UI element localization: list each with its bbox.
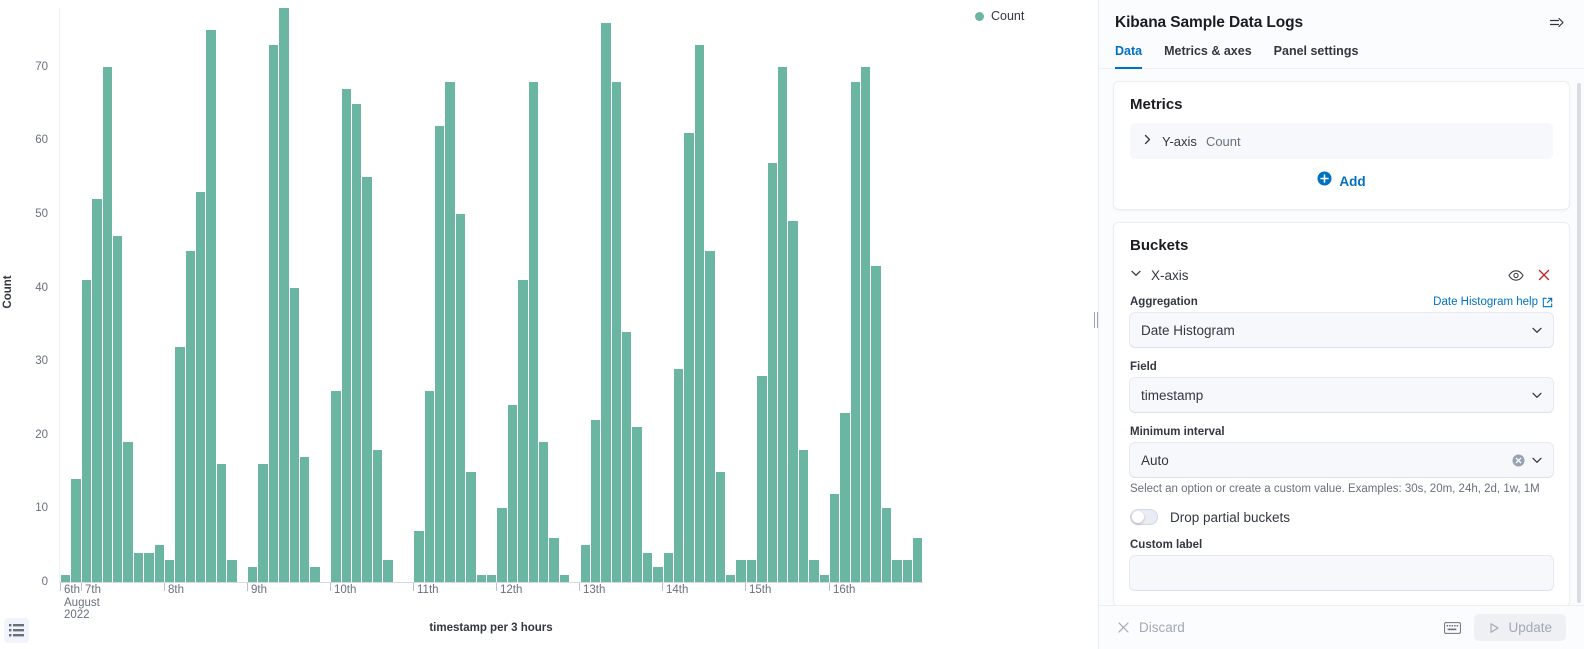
chart-legend[interactable]: Count: [975, 9, 1024, 23]
bar[interactable]: [725, 575, 735, 582]
legend-item-count[interactable]: Count: [991, 9, 1024, 23]
bar[interactable]: [600, 23, 610, 582]
bar[interactable]: [507, 405, 517, 582]
bar[interactable]: [756, 376, 766, 582]
legend-color-dot: [975, 12, 984, 21]
collapse-panel-icon: [1549, 16, 1566, 31]
bar[interactable]: [912, 538, 922, 582]
tab-metrics-and-axes[interactable]: Metrics & axes: [1164, 44, 1252, 69]
close-x-icon: [1537, 268, 1551, 282]
drop-partial-buckets-toggle[interactable]: [1130, 509, 1158, 525]
bar[interactable]: [746, 560, 756, 582]
chevron-down-icon[interactable]: [1130, 266, 1142, 284]
buckets-heading: Buckets: [1130, 237, 1553, 254]
bar[interactable]: [496, 508, 506, 582]
aggregation-selected-value: Date Histogram: [1141, 323, 1525, 338]
bucket-x-axis-title: X-axis: [1151, 268, 1497, 283]
bar[interactable]: [133, 553, 143, 582]
aggregation-select[interactable]: Date Histogram: [1130, 313, 1553, 347]
bar[interactable]: [330, 391, 340, 582]
bar[interactable]: [829, 494, 839, 582]
bar[interactable]: [548, 538, 558, 582]
x-axis-tick-label: 8th: [168, 584, 184, 597]
bar[interactable]: [715, 472, 725, 582]
x-axis-tick-mark: [330, 583, 331, 591]
bar[interactable]: [683, 133, 693, 582]
x-axis-tick-mark: [662, 583, 663, 591]
bar[interactable]: [424, 391, 434, 582]
side-panel-header: Kibana Sample Data Logs: [1099, 0, 1584, 33]
chart-pane: Count Count 010203040506070 6th August 2…: [0, 0, 1098, 649]
bar[interactable]: [413, 531, 423, 583]
x-axis-tick-mark: [247, 583, 248, 591]
bar[interactable]: [278, 8, 288, 582]
x-axis-tick-mark: [745, 583, 746, 591]
bar[interactable]: [216, 464, 226, 582]
chevron-right-icon: [1142, 132, 1153, 150]
x-axis-tick-mark: [496, 583, 497, 591]
y-axis-tick-label: 10: [35, 502, 48, 514]
x-axis-tick-label: 16th: [833, 584, 855, 597]
bar[interactable]: [60, 575, 70, 582]
x-axis-tick-label: 9th: [251, 584, 267, 597]
toggle-visibility-button[interactable]: [1506, 267, 1526, 284]
keyboard-shortcuts-button[interactable]: [1441, 619, 1464, 637]
chevron-down-icon[interactable]: [1531, 454, 1543, 466]
bar[interactable]: [673, 369, 683, 582]
update-label: Update: [1508, 620, 1552, 635]
drop-partial-buckets-row[interactable]: Drop partial buckets: [1130, 509, 1553, 525]
metric-row-label: Y-axis: [1162, 134, 1197, 149]
x-axis-tick-mark: [579, 583, 580, 591]
footer-actions: Update: [1441, 614, 1566, 641]
eye-icon: [1508, 269, 1524, 282]
bar[interactable]: [361, 177, 371, 582]
aggregation-label-row: Aggregation Date Histogram help: [1130, 296, 1553, 308]
editor-scroll-region[interactable]: Metrics Y-axis Count Add: [1099, 69, 1584, 605]
update-button[interactable]: Update: [1474, 614, 1566, 641]
x-axis-tick-mark: [164, 583, 165, 591]
field-label: Field: [1130, 361, 1157, 373]
bar[interactable]: [372, 450, 382, 582]
bar-series-count[interactable]: [60, 8, 922, 582]
bar[interactable]: [891, 560, 901, 582]
y-axis-ticks: 010203040506070: [0, 0, 56, 649]
bar[interactable]: [652, 567, 662, 582]
metrics-heading: Metrics: [1130, 96, 1553, 113]
x-axis-tick-mark: [60, 583, 61, 591]
bar[interactable]: [881, 508, 891, 582]
field-selected-value: timestamp: [1141, 388, 1525, 403]
close-x-icon: [1117, 621, 1130, 634]
bar[interactable]: [154, 545, 164, 582]
plus-circle-icon: [1317, 171, 1332, 191]
collapse-panel-button[interactable]: [1547, 14, 1568, 33]
discard-button[interactable]: Discard: [1117, 620, 1185, 635]
y-axis-tick-label: 0: [42, 576, 48, 588]
bar[interactable]: [205, 30, 215, 582]
custom-label-label: Custom label: [1130, 539, 1202, 551]
bar[interactable]: [268, 45, 278, 582]
bar[interactable]: [91, 199, 101, 582]
plot-area: Count 010203040506070 6th August 20227th…: [0, 0, 960, 649]
bar[interactable]: [580, 545, 590, 582]
bar[interactable]: [777, 67, 787, 582]
bar[interactable]: [143, 553, 153, 582]
toggle-knob: [1132, 511, 1144, 523]
date-histogram-help-text: Date Histogram help: [1433, 296, 1538, 308]
bar[interactable]: [517, 280, 527, 582]
bar[interactable]: [351, 104, 361, 582]
x-axis-tick-label: 11th: [417, 584, 439, 597]
y-axis-tick-label: 60: [35, 134, 48, 146]
bar[interactable]: [694, 45, 704, 582]
bar[interactable]: [611, 82, 621, 582]
remove-bucket-button[interactable]: [1535, 266, 1553, 284]
minimum-interval-label: Minimum interval: [1130, 426, 1225, 438]
bar[interactable]: [434, 126, 444, 582]
add-metric-label: Add: [1339, 174, 1365, 189]
editor-tabs: Data Metrics & axes Panel settings: [1099, 33, 1584, 69]
minimum-interval-hint: Select an option or create a custom valu…: [1130, 482, 1553, 497]
y-axis-tick-label: 70: [35, 61, 48, 73]
minimum-interval-label-row: Minimum interval: [1130, 426, 1553, 438]
bar[interactable]: [341, 89, 351, 582]
drop-partial-buckets-label: Drop partial buckets: [1170, 510, 1290, 525]
y-axis-tick-label: 50: [35, 208, 48, 220]
custom-label-label-row: Custom label: [1130, 539, 1553, 551]
bar[interactable]: [102, 67, 112, 582]
y-axis-tick-label: 20: [35, 429, 48, 441]
bar[interactable]: [70, 479, 80, 582]
y-axis-tick-label: 30: [35, 355, 48, 367]
aggregation-label: Aggregation: [1130, 296, 1198, 308]
bar[interactable]: [164, 560, 174, 582]
minimum-interval-value: Auto: [1141, 453, 1506, 468]
bar[interactable]: [902, 560, 912, 582]
x-axis-tick-label: 14th: [666, 584, 688, 597]
bar[interactable]: [850, 82, 860, 582]
x-axis-tick-mark: [829, 583, 830, 591]
bar[interactable]: [787, 221, 797, 582]
x-axis-title: timestamp per 3 hours: [60, 622, 922, 634]
resize-grip-line: [1094, 312, 1095, 328]
field-select[interactable]: timestamp: [1130, 378, 1553, 412]
bar[interactable]: [642, 553, 652, 582]
bar[interactable]: [808, 560, 818, 582]
resize-grip-line: [1097, 312, 1098, 328]
x-axis-tick-mark: [81, 583, 82, 591]
bucket-x-axis-header[interactable]: X-axis: [1130, 264, 1553, 296]
tab-data[interactable]: Data: [1115, 44, 1142, 69]
bar[interactable]: [309, 567, 319, 582]
play-icon: [1488, 622, 1500, 634]
bar[interactable]: [590, 420, 600, 582]
bar[interactable]: [465, 472, 475, 582]
chevron-down-icon: [1531, 324, 1543, 336]
bar[interactable]: [174, 347, 184, 582]
x-axis-tick-mark: [413, 583, 414, 591]
bar[interactable]: [798, 450, 808, 582]
keyboard-icon: [1444, 622, 1461, 634]
x-axis-tick-label: 10th: [334, 584, 356, 597]
field-label-row: Field: [1130, 361, 1553, 373]
bar[interactable]: [621, 332, 631, 582]
date-histogram-help-link[interactable]: Date Histogram help: [1433, 296, 1553, 308]
page-title: Kibana Sample Data Logs: [1115, 14, 1303, 32]
bar[interactable]: [195, 192, 205, 582]
bar[interactable]: [299, 457, 309, 582]
x-axis-tick-label: 15th: [749, 584, 771, 597]
y-axis-tick-label: 40: [35, 282, 48, 294]
bar[interactable]: [289, 288, 299, 582]
table-view-toggle-button[interactable]: [4, 618, 29, 643]
bar[interactable]: [860, 67, 870, 582]
bar[interactable]: [735, 560, 745, 582]
kibana-visualize-editor: Count Count 010203040506070 6th August 2…: [0, 0, 1584, 649]
bar[interactable]: [455, 214, 465, 582]
metrics-card: Metrics Y-axis Count Add: [1113, 81, 1570, 210]
metric-row-y-axis[interactable]: Y-axis Count: [1130, 123, 1553, 159]
bar[interactable]: [528, 82, 538, 582]
bar[interactable]: [704, 251, 714, 582]
x-axis-tick-label: 7th: [85, 584, 101, 597]
bar[interactable]: [257, 464, 267, 582]
bar[interactable]: [839, 413, 849, 582]
table-icon: [9, 624, 24, 637]
clear-circle-icon: [1512, 454, 1525, 467]
bar[interactable]: [185, 251, 195, 582]
bar[interactable]: [476, 575, 486, 582]
bar[interactable]: [538, 442, 548, 582]
editor-side-panel: Kibana Sample Data Logs Data Metrics & a…: [1098, 0, 1584, 649]
bar[interactable]: [226, 560, 236, 582]
clear-interval-button[interactable]: [1512, 454, 1525, 467]
discard-label: Discard: [1139, 620, 1185, 635]
bar[interactable]: [444, 82, 454, 582]
bar[interactable]: [81, 280, 91, 582]
x-axis-tick-label: 12th: [500, 584, 522, 597]
x-axis-tick-label: 13th: [583, 584, 605, 597]
bar[interactable]: [631, 427, 641, 582]
tab-panel-settings[interactable]: Panel settings: [1274, 44, 1359, 69]
add-metric-button[interactable]: Add: [1130, 159, 1553, 193]
metric-row-value: Count: [1206, 134, 1241, 149]
bar[interactable]: [870, 266, 880, 582]
external-link-icon: [1542, 297, 1553, 308]
buckets-card: Buckets X-axis: [1113, 222, 1570, 605]
custom-label-input[interactable]: [1130, 556, 1553, 590]
bars-plot: [60, 8, 922, 582]
editor-footer: Discard: [1099, 605, 1584, 649]
panel-resize-handle[interactable]: [1092, 310, 1100, 330]
bar[interactable]: [663, 553, 673, 582]
chevron-down-icon: [1531, 389, 1543, 401]
bar[interactable]: [819, 575, 829, 582]
bar[interactable]: [247, 567, 257, 582]
side-panel-scrollbar[interactable]: [1577, 83, 1581, 603]
minimum-interval-combobox[interactable]: Auto: [1130, 443, 1553, 477]
bar[interactable]: [382, 560, 392, 582]
bar[interactable]: [767, 163, 777, 582]
bar[interactable]: [486, 575, 496, 582]
bar[interactable]: [559, 575, 569, 582]
bar[interactable]: [112, 236, 122, 582]
bar[interactable]: [122, 442, 132, 582]
